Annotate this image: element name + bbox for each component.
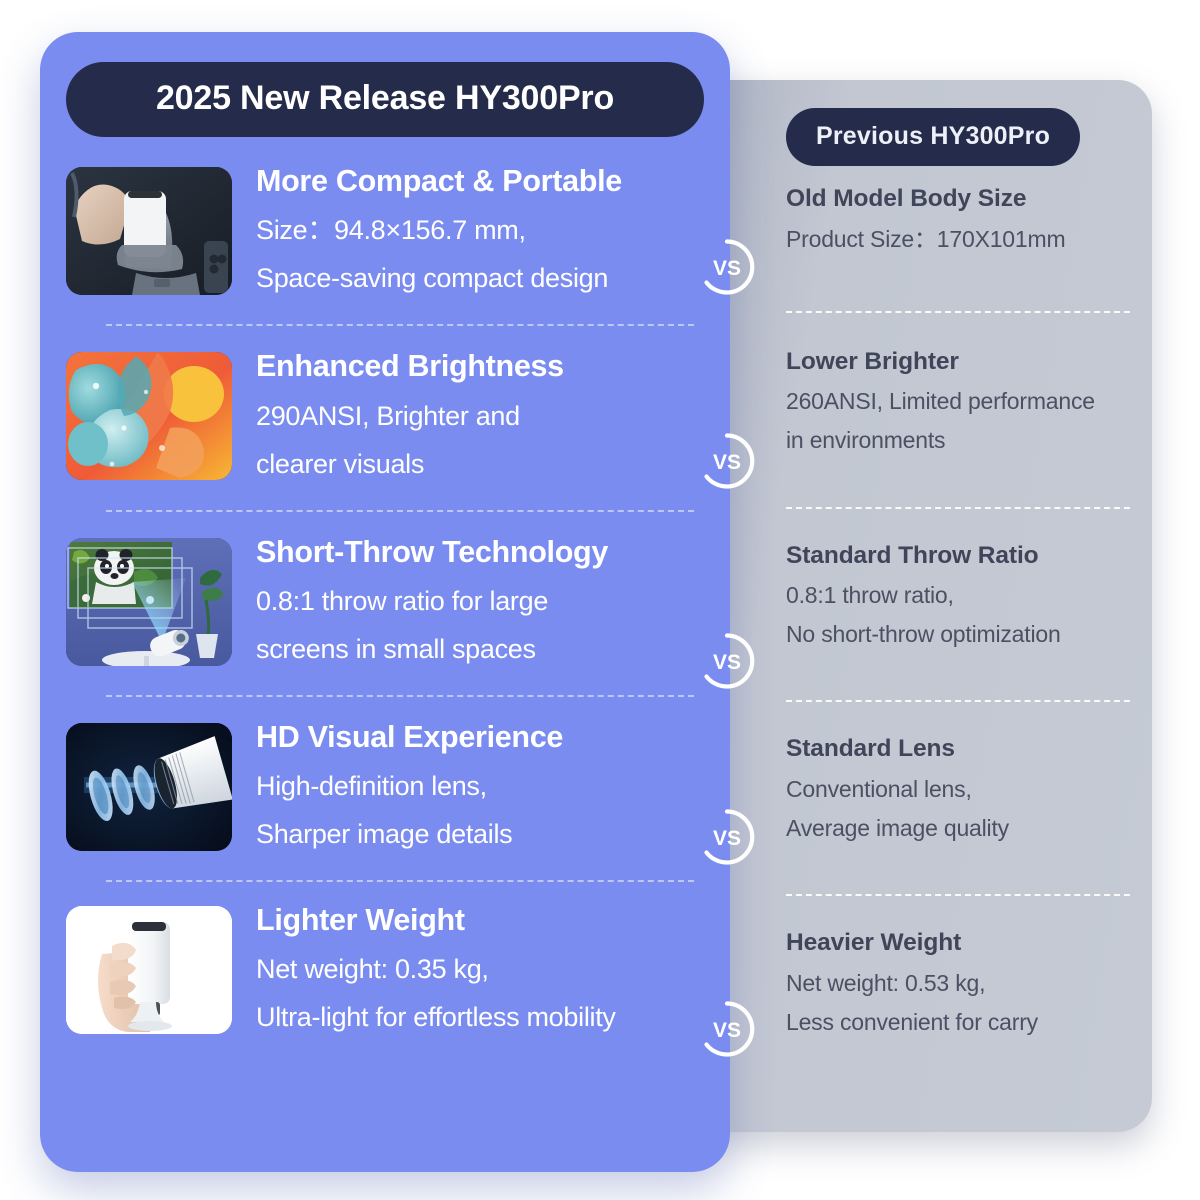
new-row-line: Space-saving compact design <box>256 254 622 302</box>
new-row-divider <box>106 880 694 882</box>
vs-label: VS <box>713 651 741 674</box>
new-row-line: Size：94.8×156.7 mm, <box>256 206 622 254</box>
old-row-title: Heavier Weight <box>786 928 1138 959</box>
new-row-line: 0.8:1 throw ratio for large <box>256 577 608 625</box>
lens-assembly-exploded-photo <box>66 723 232 851</box>
new-row-text: More Compact & Portable Size：94.8×156.7 … <box>256 161 622 302</box>
new-row-title: Lighter Weight <box>256 902 616 939</box>
new-row-title: HD Visual Experience <box>256 719 563 756</box>
vs-badge-weight: VS <box>698 1000 756 1058</box>
old-row-line: Conventional lens, <box>786 770 1138 809</box>
new-row-text: Enhanced Brightness 290ANSI, Brighter an… <box>256 346 564 487</box>
comparison-infographic: Previous HY300Pro Old Model Body Size Pr… <box>0 0 1200 1200</box>
old-row-line: Less convenient for carry <box>786 1003 1138 1042</box>
new-release-panel: 2025 New Release HY300Pro <box>40 32 730 1172</box>
vs-badge-compact: VS <box>698 238 756 296</box>
panda-projection-room-photo <box>66 538 232 666</box>
new-release-badge: 2025 New Release HY300Pro <box>66 62 704 137</box>
new-row-divider <box>106 510 694 512</box>
new-row-line: screens in small spaces <box>256 625 608 673</box>
new-release-rows: More Compact & Portable Size：94.8×156.7 … <box>66 161 704 1041</box>
old-row-line: Net weight: 0.53 kg, <box>786 964 1138 1003</box>
new-row-text: Short-Throw Technology 0.8:1 throw ratio… <box>256 532 608 673</box>
new-row-text: Lighter Weight Net weight: 0.35 kg, Ultr… <box>256 900 616 1041</box>
new-row-title: More Compact & Portable <box>256 163 622 200</box>
old-row-weight: Heavier Weight Net weight: 0.53 kg, Less… <box>786 928 1138 1042</box>
old-row-divider <box>786 700 1130 702</box>
new-row-line: 290ANSI, Brighter and <box>256 392 564 440</box>
old-row-lens: Standard Lens Conventional lens, Average… <box>786 734 1138 848</box>
old-row-line: No short-throw optimization <box>786 615 1138 654</box>
old-row-body-size: Old Model Body Size Product Size：170X101… <box>786 184 1138 259</box>
new-row-line: clearer visuals <box>256 440 564 488</box>
old-row-divider <box>786 894 1130 896</box>
old-row-throw-ratio: Standard Throw Ratio 0.8:1 throw ratio, … <box>786 541 1138 655</box>
vs-label: VS <box>713 827 741 850</box>
new-row-divider <box>106 324 694 326</box>
old-row-line: 260ANSI, Limited performance <box>786 382 1138 421</box>
old-row-brightness: Lower Brighter 260ANSI, Limited performa… <box>786 347 1138 461</box>
vs-badge-lens: VS <box>698 808 756 866</box>
old-row-line: Product Size：170X101mm <box>786 220 1138 259</box>
old-row-title: Lower Brighter <box>786 347 1138 378</box>
old-row-title: Old Model Body Size <box>786 184 1138 215</box>
previous-model-panel: Previous HY300Pro Old Model Body Size Pr… <box>700 80 1152 1132</box>
projector-in-backpack-photo <box>66 167 232 295</box>
new-row-line: Net weight: 0.35 kg, <box>256 945 616 993</box>
old-row-line: Average image quality <box>786 809 1138 848</box>
old-row-divider <box>786 311 1130 313</box>
old-row-title: Standard Lens <box>786 734 1138 765</box>
old-row-divider <box>786 507 1130 509</box>
new-row-text: HD Visual Experience High-definition len… <box>256 717 563 858</box>
old-row-title: Standard Throw Ratio <box>786 541 1138 572</box>
new-row-compact: More Compact & Portable Size：94.8×156.7 … <box>66 161 704 302</box>
vs-label: VS <box>713 257 741 280</box>
vs-label: VS <box>713 451 741 474</box>
old-row-line: 0.8:1 throw ratio, <box>786 576 1138 615</box>
new-row-brightness: Enhanced Brightness 290ANSI, Brighter an… <box>66 346 704 487</box>
new-row-hd-visual: HD Visual Experience High-definition len… <box>66 717 704 858</box>
vs-badge-throw: VS <box>698 632 756 690</box>
colorful-flowers-brightness-photo <box>66 352 232 480</box>
new-row-title: Short-Throw Technology <box>256 534 608 571</box>
old-row-line: in environments <box>786 421 1138 460</box>
previous-model-rows: Old Model Body Size Product Size：170X101… <box>786 184 1152 1042</box>
projector-held-in-hand-photo <box>66 906 232 1034</box>
vs-badge-brightness: VS <box>698 432 756 490</box>
vs-label: VS <box>713 1019 741 1042</box>
new-row-lighter-weight: Lighter Weight Net weight: 0.35 kg, Ultr… <box>66 900 704 1041</box>
new-row-title: Enhanced Brightness <box>256 348 564 385</box>
new-row-line: High-definition lens, <box>256 762 563 810</box>
new-row-short-throw: Short-Throw Technology 0.8:1 throw ratio… <box>66 532 704 673</box>
previous-model-badge: Previous HY300Pro <box>786 108 1080 166</box>
new-row-line: Sharper image details <box>256 810 563 858</box>
new-row-line: Ultra-light for effortless mobility <box>256 993 616 1041</box>
new-row-divider <box>106 695 694 697</box>
